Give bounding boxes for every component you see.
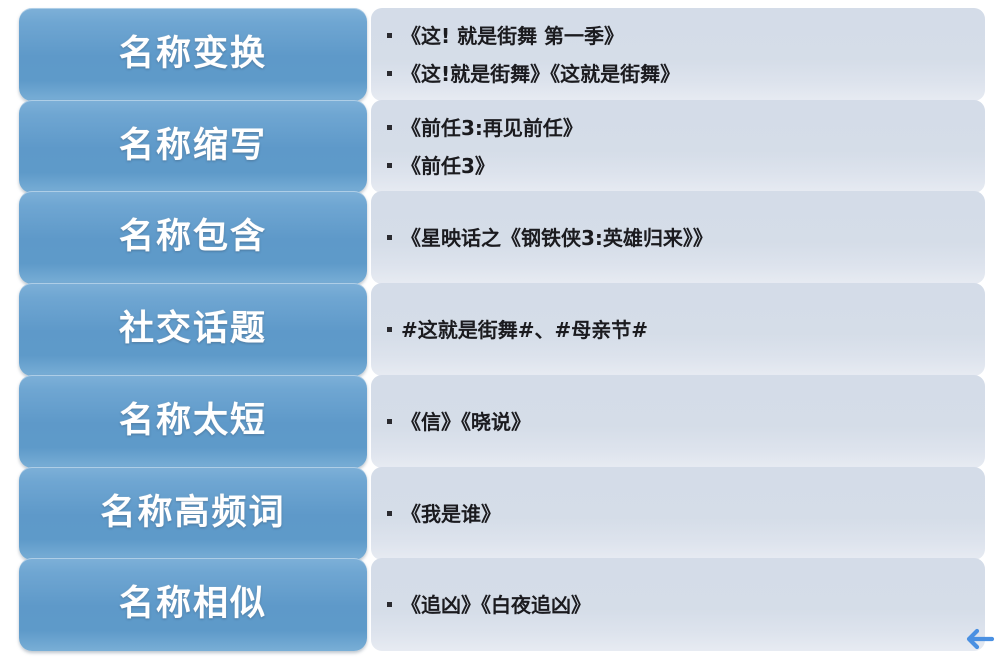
examples-panel: 《追凶》《白夜追凶》 [371, 558, 985, 651]
category-row: 名称包含《星映话之《钢铁侠3:英雄归来》》 [0, 191, 1000, 284]
examples-panel: 《我是谁》 [371, 467, 985, 560]
category-chip[interactable]: 名称变换 [19, 8, 367, 101]
category-chip[interactable]: 社交话题 [19, 283, 367, 376]
category-chip[interactable]: 名称太短 [19, 375, 367, 468]
category-row: 名称太短《信》《晓说》 [0, 375, 1000, 468]
example-text: 《信》《晓说》 [401, 411, 531, 433]
square-bullet-icon [387, 125, 392, 130]
category-row: 名称高频词《我是谁》 [0, 467, 1000, 560]
examples-panel: 《信》《晓说》 [371, 375, 985, 468]
example-list-item: #这就是街舞#、#母亲节# [387, 319, 985, 341]
category-row: 社交话题#这就是街舞#、#母亲节# [0, 283, 1000, 376]
square-bullet-icon [387, 327, 392, 332]
example-list-item: 《追凶》《白夜追凶》 [387, 594, 985, 616]
example-list-item: 《星映话之《钢铁侠3:英雄归来》》 [387, 227, 985, 249]
example-list-item: 《我是谁》 [387, 503, 985, 525]
category-chip[interactable]: 名称相似 [19, 558, 367, 651]
category-label: 名称太短 [119, 404, 267, 439]
examples-panel: 《前任3:再见前任》《前任3》 [371, 100, 985, 193]
category-row: 名称变换《这! 就是街舞 第一季》《这!就是街舞》《这就是街舞》 [0, 8, 1000, 101]
category-example-board: 名称变换《这! 就是街舞 第一季》《这!就是街舞》《这就是街舞》名称缩写《前任3… [0, 0, 1000, 664]
example-list-item: 《这!就是街舞》《这就是街舞》 [387, 63, 985, 85]
example-text: #这就是街舞#、#母亲节# [401, 319, 648, 341]
example-text: 《前任3:再见前任》 [401, 117, 583, 139]
arrow-left-icon[interactable] [962, 624, 996, 654]
category-label: 名称包含 [119, 220, 267, 255]
example-text: 《星映话之《钢铁侠3:英雄归来》》 [401, 227, 713, 249]
example-text: 《追凶》《白夜追凶》 [401, 594, 591, 616]
category-chip[interactable]: 名称包含 [19, 191, 367, 284]
category-row: 名称相似《追凶》《白夜追凶》 [0, 558, 1000, 651]
category-label: 名称相似 [119, 587, 267, 622]
category-label: 社交话题 [119, 312, 267, 347]
example-text: 《这!就是街舞》《这就是街舞》 [401, 63, 680, 85]
examples-panel: 《星映话之《钢铁侠3:英雄归来》》 [371, 191, 985, 284]
square-bullet-icon [387, 235, 392, 240]
category-label: 名称高频词 [100, 496, 285, 531]
examples-panel: #这就是街舞#、#母亲节# [371, 283, 985, 376]
example-list-item: 《信》《晓说》 [387, 411, 985, 433]
square-bullet-icon [387, 602, 392, 607]
category-row: 名称缩写《前任3:再见前任》《前任3》 [0, 100, 1000, 193]
square-bullet-icon [387, 71, 392, 76]
example-list-item: 《这! 就是街舞 第一季》 [387, 25, 985, 47]
example-text: 《我是谁》 [401, 503, 501, 525]
examples-panel: 《这! 就是街舞 第一季》《这!就是街舞》《这就是街舞》 [371, 8, 985, 101]
category-chip[interactable]: 名称缩写 [19, 100, 367, 193]
example-text: 《前任3》 [401, 155, 495, 177]
category-label: 名称缩写 [119, 129, 267, 164]
example-list-item: 《前任3:再见前任》 [387, 117, 985, 139]
example-list-item: 《前任3》 [387, 155, 985, 177]
category-chip[interactable]: 名称高频词 [19, 467, 367, 560]
category-label: 名称变换 [119, 37, 267, 72]
example-text: 《这! 就是街舞 第一季》 [401, 25, 624, 47]
square-bullet-icon [387, 419, 392, 424]
square-bullet-icon [387, 33, 392, 38]
square-bullet-icon [387, 163, 392, 168]
square-bullet-icon [387, 511, 392, 516]
